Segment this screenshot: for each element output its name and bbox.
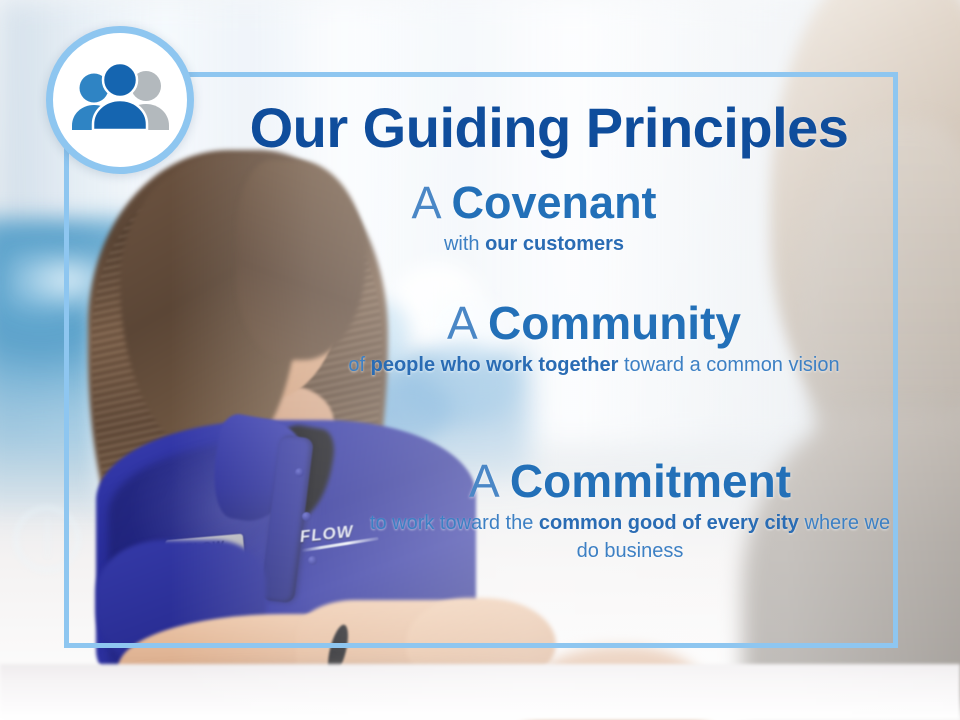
banner-canvas: FLOW AUTOMOTIVE FLOW xyxy=(0,0,960,720)
polo-button xyxy=(302,512,311,521)
white-desk xyxy=(0,664,960,720)
people-badge xyxy=(46,26,194,174)
polo-button xyxy=(295,468,304,477)
polo-button xyxy=(308,556,317,565)
people-group-icon xyxy=(66,62,174,138)
associate-hair-front-right xyxy=(236,160,366,360)
